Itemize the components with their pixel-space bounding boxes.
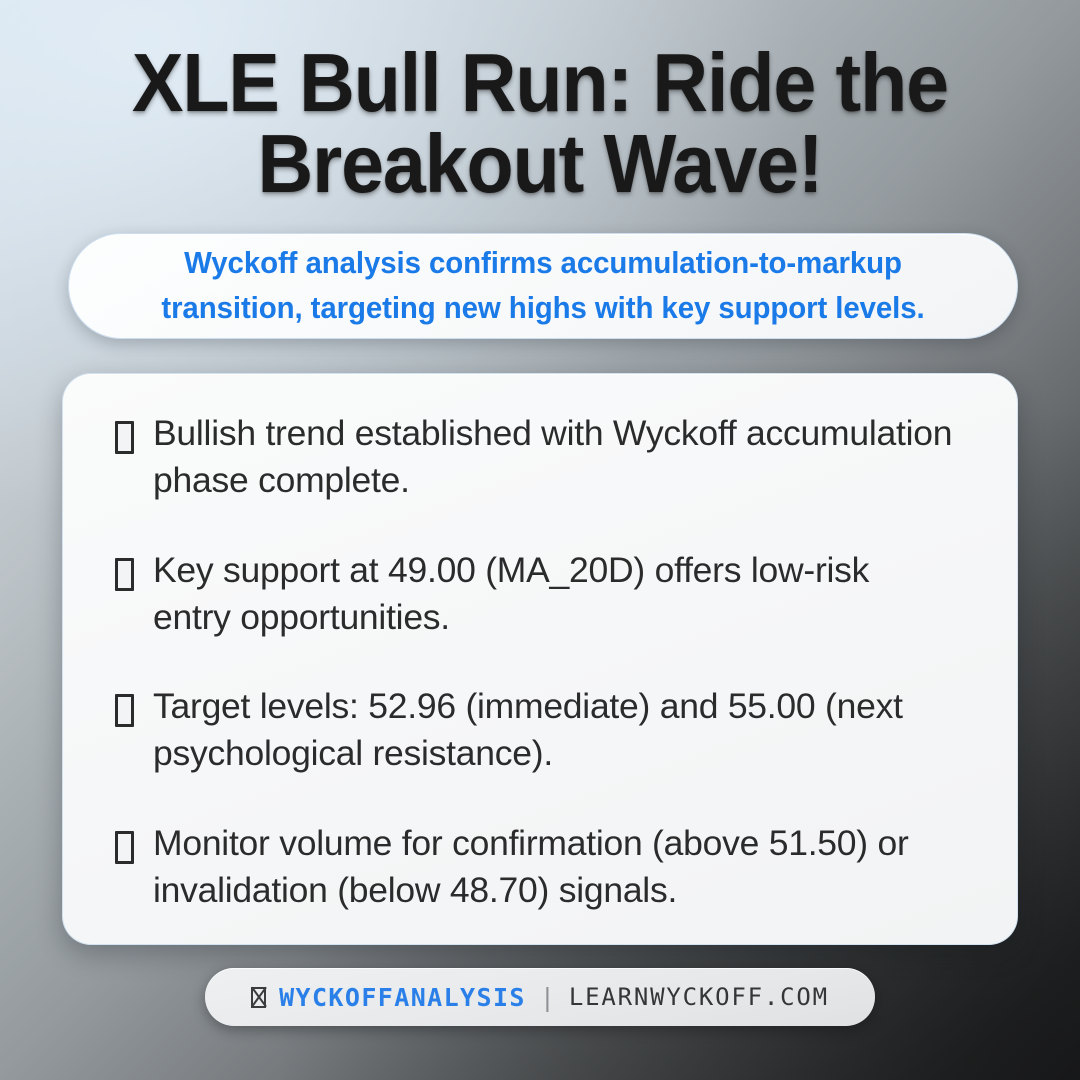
list-item: Monitor volume for confirmation (above 5… bbox=[115, 820, 971, 914]
list-item-text: Bullish trend established with Wyckoff a… bbox=[153, 410, 953, 504]
list-item: Target levels: 52.96 (immediate) and 55.… bbox=[115, 683, 971, 777]
key-points-card: Bullish trend established with Wyckoff a… bbox=[62, 373, 1018, 945]
subtitle-text: Wyckoff analysis confirms accumulation-t… bbox=[122, 241, 963, 331]
list-item-text: Monitor volume for confirmation (above 5… bbox=[153, 820, 953, 914]
notdef-box-icon bbox=[251, 987, 266, 1008]
footer-divider: | bbox=[539, 983, 556, 1012]
footer-website: LEARNWYCKOFF.COM bbox=[569, 983, 829, 1011]
subtitle-banner: Wyckoff analysis confirms accumulation-t… bbox=[68, 233, 1018, 339]
poster-canvas: XLE Bull Run: Ride the Breakout Wave! Wy… bbox=[0, 0, 1080, 1080]
footer-handle: WYCKOFFANALYSIS bbox=[279, 983, 526, 1012]
list-item-text: Target levels: 52.96 (immediate) and 55.… bbox=[153, 683, 953, 777]
footer-branding-bar: WYCKOFFANALYSIS | LEARNWYCKOFF.COM bbox=[205, 968, 875, 1026]
list-item: Bullish trend established with Wyckoff a… bbox=[115, 410, 971, 504]
list-item-text: Key support at 49.00 (MA_20D) offers low… bbox=[153, 547, 953, 641]
tofu-box-icon bbox=[115, 558, 134, 591]
tofu-box-icon bbox=[115, 831, 134, 864]
list-item: Key support at 49.00 (MA_20D) offers low… bbox=[115, 547, 971, 641]
tofu-box-icon bbox=[115, 694, 134, 727]
tofu-box-icon bbox=[115, 421, 134, 454]
page-title: XLE Bull Run: Ride the Breakout Wave! bbox=[84, 42, 995, 205]
